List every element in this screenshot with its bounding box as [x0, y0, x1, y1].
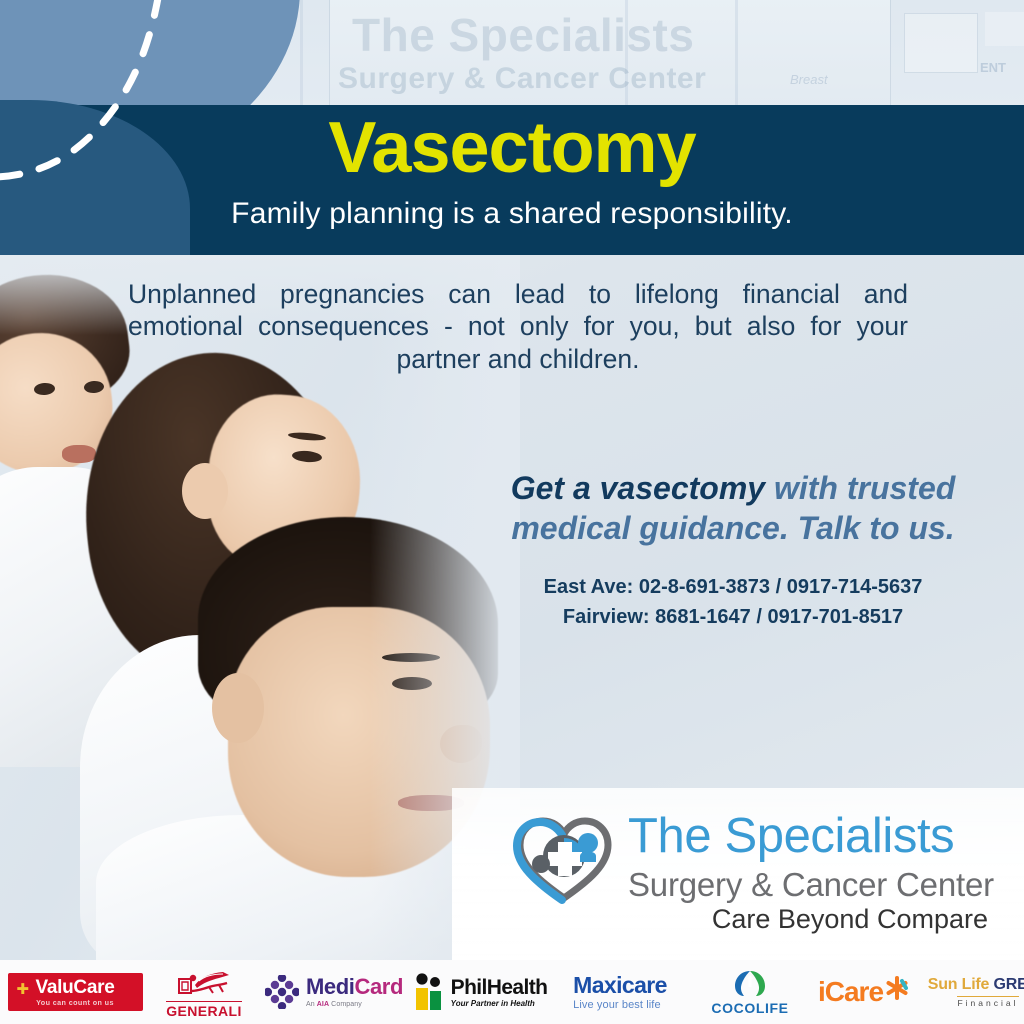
partner-logo-sunlife-grepa[interactable]: Sun Life GREPA Financial: [918, 960, 1024, 1024]
contact-line-east-ave[interactable]: East Ave: 02-8-691-3873 / 0917-714-5637: [455, 572, 1011, 602]
vasectomy-ad-poster: The Specialists Surgery & Cancer Center …: [0, 0, 1024, 1024]
signage-panel: [905, 14, 977, 72]
partner-logo-philhealth[interactable]: PhilHealth Your Partner in Health: [410, 960, 550, 1024]
logo-name-primary: The Specialists: [628, 812, 954, 861]
cta-bold-part: Get a vasectomy: [511, 470, 765, 506]
page-subtitle: Family planning is a shared responsibili…: [0, 197, 1024, 231]
medicard-sub-pre: An: [306, 1001, 317, 1008]
logo-name-secondary: Surgery & Cancer Center: [628, 868, 994, 901]
signage-pole: [735, 0, 738, 110]
generali-winged-lion-icon: [173, 967, 235, 999]
body-paragraph: Unplanned pregnancies can lead to lifelo…: [128, 278, 908, 375]
sunlife-subtitle: Financial: [957, 996, 1018, 1008]
medicard-name-a: Medi: [306, 974, 355, 999]
valucare-tagline: You can count on us: [36, 999, 114, 1006]
philhealth-tagline: Your Partner in Health: [451, 1000, 548, 1008]
maxicare-tagline: Live your best life: [573, 1000, 667, 1011]
heart-medical-logo-icon: [512, 812, 616, 904]
partner-logos-strip: ✚ ValuCare You can count on us GENERALI: [0, 960, 1024, 1024]
maxicare-name: Maxicare: [573, 974, 667, 997]
partner-logo-cocolife[interactable]: COCOLIFE: [690, 960, 810, 1024]
logo-tagline: Care Beyond Compare: [628, 906, 988, 933]
sunlife-name-gold: Sun Life: [928, 976, 994, 993]
signage-text-secondary: Surgery & Cancer Center: [338, 62, 706, 96]
partner-logo-medicard[interactable]: MediCard An AIA Company: [258, 960, 410, 1024]
signage-label-ent: ENT: [980, 60, 1006, 75]
signage-panel: [985, 12, 1024, 46]
philhealth-name: PhilHealth: [451, 977, 548, 998]
partner-logo-maxicare[interactable]: Maxicare Live your best life: [550, 960, 690, 1024]
contact-line-fairview[interactable]: Fairview: 8681-1647 / 0917-701-8517: [455, 602, 1011, 632]
sunlife-name-navy: GREPA: [994, 976, 1024, 993]
signage-pole: [300, 0, 303, 110]
icare-name: iCare: [818, 978, 883, 1006]
philhealth-people-icon: [413, 972, 447, 1012]
father-ear: [212, 673, 264, 743]
medicard-sub-aia: AIA: [317, 1001, 329, 1008]
page-title: Vasectomy: [0, 112, 1024, 184]
cocolife-tree-icon: [733, 968, 767, 998]
medicard-name-b: Card: [354, 974, 403, 999]
medicard-sub-post: Company: [329, 1001, 362, 1008]
generali-name: GENERALI: [166, 1001, 242, 1018]
girl-ear: [182, 463, 228, 519]
icare-asterisk-icon: [884, 975, 910, 1001]
partner-logo-icare[interactable]: iCare: [810, 960, 918, 1024]
cocolife-name: COCOLIFE: [711, 1000, 788, 1016]
contact-numbers: East Ave: 02-8-691-3873 / 0917-714-5637 …: [455, 572, 1011, 632]
partner-logo-generali[interactable]: GENERALI: [150, 960, 258, 1024]
signage-label-breast: Breast: [790, 72, 828, 87]
call-to-action-text: Get a vasectomy with trusted medical gui…: [455, 468, 1011, 548]
partner-logo-valucare[interactable]: ✚ ValuCare You can count on us: [0, 960, 150, 1024]
signage-text-primary: The Specialists: [352, 8, 694, 62]
valucare-cross-icon: ✚: [17, 982, 30, 997]
medicard-diamond-icon: [265, 975, 299, 1009]
valucare-name: ValuCare: [36, 978, 115, 997]
toddler-mouth: [62, 445, 96, 463]
